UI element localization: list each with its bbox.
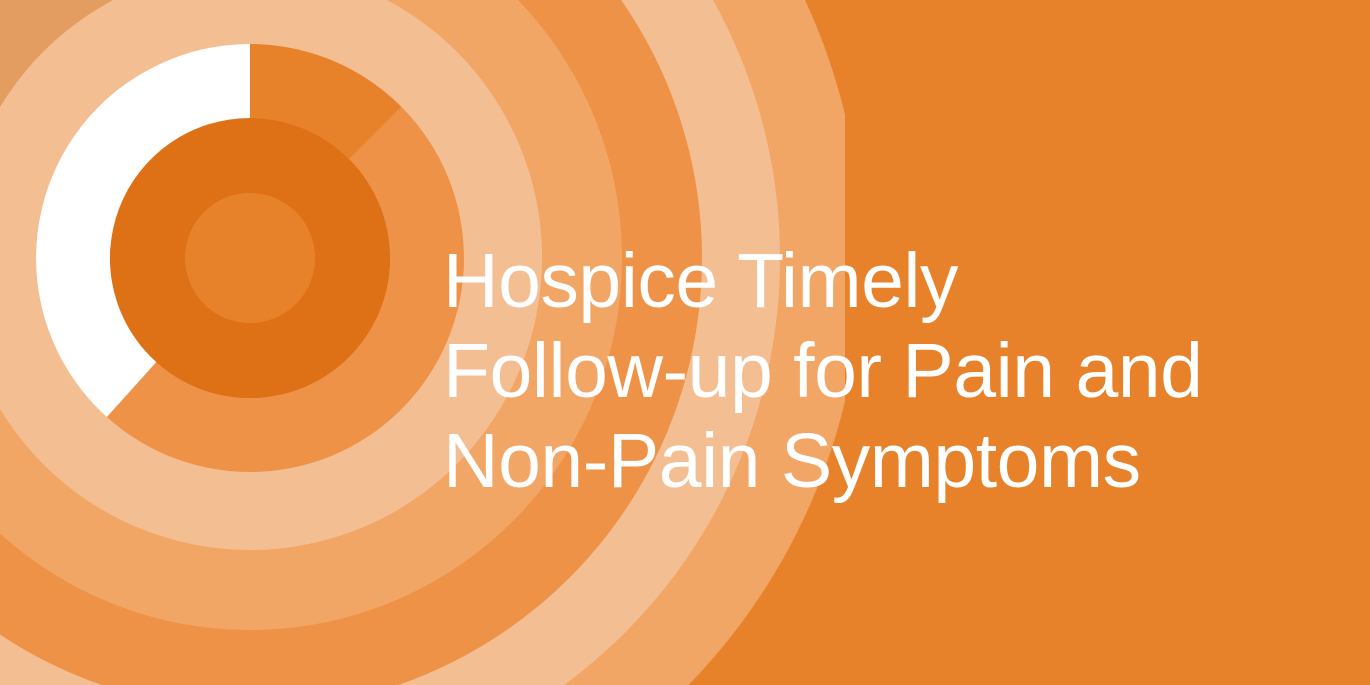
outer-upper-left-tint <box>0 0 250 258</box>
ring-full-ring-1 <box>110 118 390 398</box>
ring-2-white-gap <box>36 44 250 417</box>
page-title: Hospice Timely Follow-up for Pain and No… <box>443 236 1343 506</box>
ring-2-pale-top <box>150 0 542 258</box>
ring-1-dark-b <box>110 246 185 258</box>
ring-full-inner-disc <box>185 193 315 323</box>
ring-2-upper-left <box>36 44 401 258</box>
title-slide: Hospice Timely Follow-up for Pain and No… <box>0 0 1370 685</box>
inner-disc <box>185 193 315 323</box>
title-line-3: Non-Pain Symptoms <box>443 416 1343 506</box>
title-line-2: Follow-up for Pain and <box>443 326 1343 416</box>
ring-full-ring-2 <box>36 44 464 472</box>
title-line-1: Hospice Timely <box>443 236 1343 326</box>
ring-1-dark <box>110 258 390 398</box>
